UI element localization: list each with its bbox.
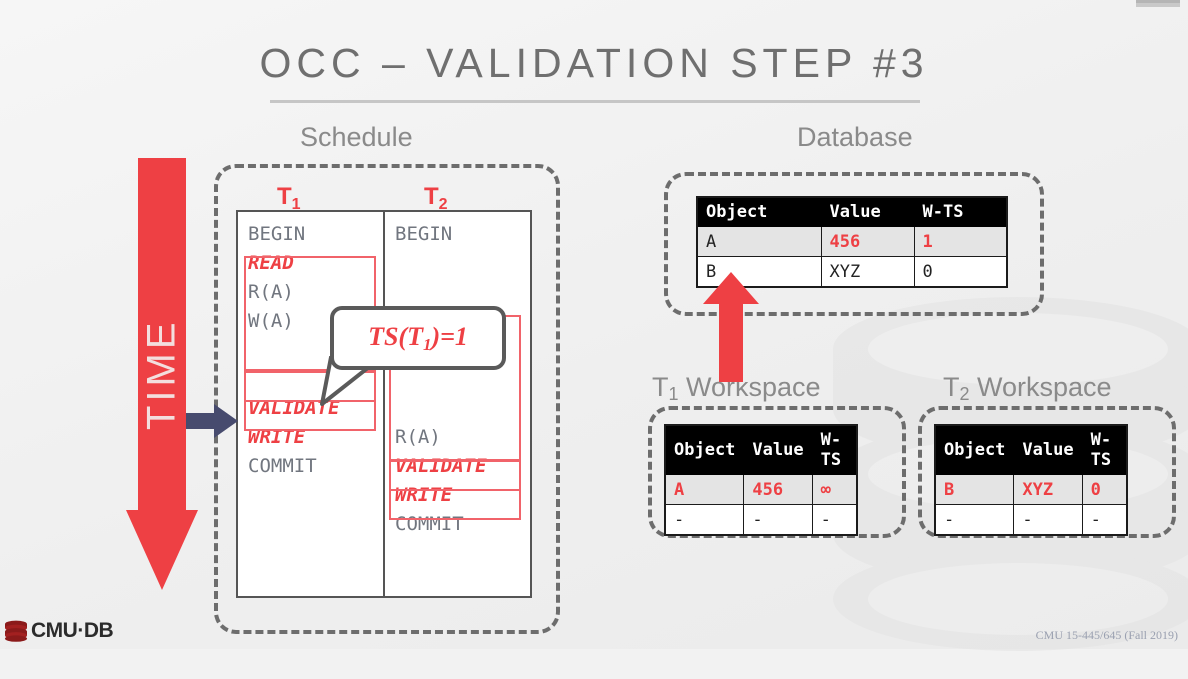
t2-op-2 bbox=[395, 278, 530, 307]
time-axis-label: TIME bbox=[126, 158, 198, 590]
workspace-t2-caption-label: T bbox=[943, 372, 960, 402]
table-row: A 456 ∞ bbox=[665, 475, 857, 505]
workspace-t2-r1-value: - bbox=[1014, 505, 1082, 536]
workspace-t1-r1-wts: - bbox=[812, 505, 857, 536]
t2-op-0: BEGIN bbox=[395, 220, 530, 249]
workspace-t1-header-object: Object bbox=[665, 425, 744, 475]
t2-op-1 bbox=[395, 249, 530, 278]
database-r1-wts: 0 bbox=[914, 257, 1007, 288]
title-underline bbox=[270, 100, 920, 103]
current-step-right-arrow-icon bbox=[186, 404, 238, 438]
table-row: B XYZ 0 bbox=[935, 475, 1127, 505]
workspace-t1-r0-value: 456 bbox=[744, 475, 812, 505]
workspace-t1-header-wts: W-TS bbox=[812, 425, 857, 475]
table-row: A 456 1 bbox=[697, 227, 1007, 257]
database-header-wts: W-TS bbox=[914, 197, 1007, 227]
table-row: - - - bbox=[935, 505, 1127, 536]
cmudb-logo-text: CMU·DB bbox=[31, 619, 113, 643]
workspace-t1-r0-object: A bbox=[665, 475, 744, 505]
workspace-t1-header-value: Value bbox=[744, 425, 812, 475]
workspace-t2-r1-wts: - bbox=[1082, 505, 1127, 536]
workspace-t2-r0-wts: 0 bbox=[1082, 475, 1127, 505]
slide-number-stub-shadow bbox=[1136, 0, 1180, 3]
workspace-t2-header-object: Object bbox=[935, 425, 1014, 475]
t2-write-box bbox=[389, 489, 521, 520]
t1-op-8: COMMIT bbox=[248, 452, 383, 481]
database-r0-object: A bbox=[697, 227, 821, 257]
table-row: - - - bbox=[665, 505, 857, 536]
database-r0-wts: 1 bbox=[914, 227, 1007, 257]
workspace-t2-table: Object Value W-TS B XYZ 0 - - - bbox=[934, 424, 1128, 536]
schedule-caption: Schedule bbox=[300, 122, 413, 153]
t2-label-main: T bbox=[424, 183, 439, 210]
t2-validate-box bbox=[389, 460, 521, 491]
workspace-t1-r0-wts: ∞ bbox=[812, 475, 857, 505]
workspace-t2-caption-sub: 2 bbox=[960, 384, 970, 404]
timestamp-callout: TS(T1)=1 bbox=[330, 306, 506, 370]
database-caption: Database bbox=[797, 122, 913, 153]
database-header-object: Object bbox=[697, 197, 821, 227]
t1-label-main: T bbox=[277, 183, 292, 210]
workspace-t1-r1-value: - bbox=[744, 505, 812, 536]
page-title: OCC – VALIDATION STEP #3 bbox=[0, 40, 1188, 87]
workspace-t2-caption-text: Workspace bbox=[970, 372, 1112, 402]
database-r0-value: 456 bbox=[821, 227, 914, 257]
workspace-t1-caption-sub: 1 bbox=[669, 384, 679, 404]
workspace-to-database-up-arrow-icon bbox=[703, 272, 759, 382]
workspace-t1-caption-label: T bbox=[652, 372, 669, 402]
database-header-value: Value bbox=[821, 197, 914, 227]
callout-text: TS(T1)=1 bbox=[368, 322, 468, 355]
database-header-row: Object Value W-TS bbox=[697, 197, 1007, 227]
cmudb-logo: CMU·DB bbox=[4, 619, 113, 643]
callout-prefix: TS(T bbox=[368, 322, 423, 351]
database-logo-icon bbox=[4, 620, 28, 642]
database-r1-value: XYZ bbox=[821, 257, 914, 288]
workspace-t2-header-value: Value bbox=[1014, 425, 1082, 475]
workspace-t2-r0-value: XYZ bbox=[1014, 475, 1082, 505]
workspace-t1-table: Object Value W-TS A 456 ∞ - - - bbox=[664, 424, 858, 536]
workspace-t1-header-row: Object Value W-TS bbox=[665, 425, 857, 475]
workspace-t2-header-wts: W-TS bbox=[1082, 425, 1127, 475]
workspace-t1-r1-object: - bbox=[665, 505, 744, 536]
workspace-t2-caption: T2 Workspace bbox=[943, 372, 1112, 405]
callout-suffix: )=1 bbox=[431, 322, 467, 351]
t1-op-0: BEGIN bbox=[248, 220, 383, 249]
slide-footer: CMU 15-445/645 (Fall 2019) bbox=[1036, 628, 1178, 643]
workspace-t2-r1-object: - bbox=[935, 505, 1014, 536]
workspace-t2-r0-object: B bbox=[935, 475, 1014, 505]
workspace-t2-header-row: Object Value W-TS bbox=[935, 425, 1127, 475]
